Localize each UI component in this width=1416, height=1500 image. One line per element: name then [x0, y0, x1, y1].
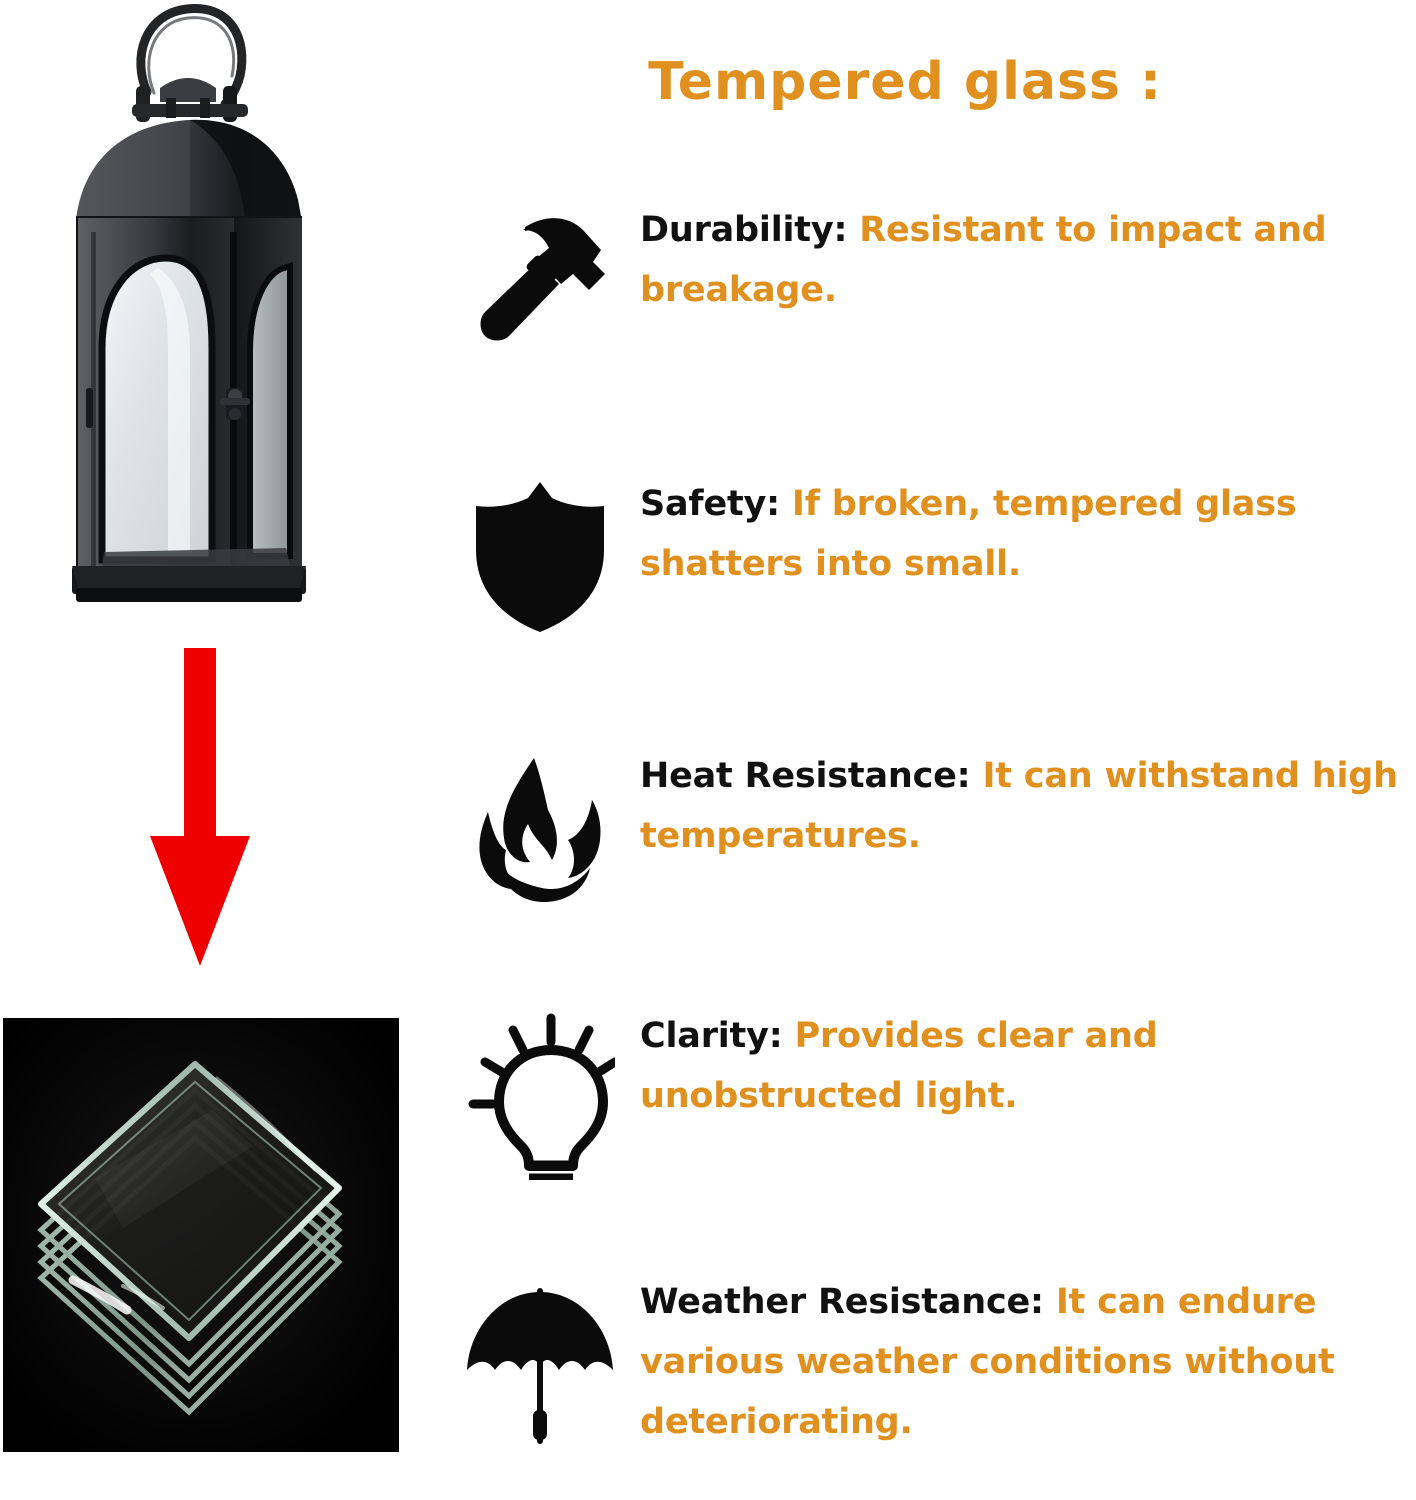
feature-label-weather-resistance: Weather Resistance:	[640, 1282, 1044, 1322]
feature-text-weather-resistance: Weather Resistance: It can endure variou…	[640, 1268, 1416, 1453]
features-column: Tempered glass : Durability: Resistant t…	[440, 0, 1416, 1500]
umbrella-icon	[440, 1268, 640, 1448]
feature-label-safety: Safety:	[640, 484, 780, 524]
feature-text-clarity: Clarity: Provides clear and unobstructed…	[640, 1002, 1416, 1126]
hammer-icon	[440, 196, 640, 376]
lantern-product-photo	[40, 0, 360, 640]
feature-row-heat-resistance: Heat Resistance: It can withstand high t…	[440, 742, 1416, 924]
feature-row-safety: Safety: If broken, tempered glass shatte…	[440, 470, 1416, 646]
feature-label-clarity: Clarity:	[640, 1016, 783, 1056]
flame-icon	[440, 742, 640, 924]
feature-label-durability: Durability:	[640, 210, 847, 250]
page-title: Tempered glass :	[440, 52, 1370, 112]
feature-text-durability: Durability: Resistant to impact and brea…	[640, 196, 1416, 320]
feature-row-durability: Durability: Resistant to impact and brea…	[440, 196, 1416, 376]
lightbulb-icon	[440, 1002, 640, 1180]
feature-label-heat-resistance: Heat Resistance:	[640, 756, 970, 796]
feature-row-clarity: Clarity: Provides clear and unobstructed…	[440, 1002, 1416, 1180]
tempered-glass-stack-photo	[3, 1018, 399, 1452]
feature-text-safety: Safety: If broken, tempered glass shatte…	[640, 470, 1416, 594]
product-image-column	[0, 0, 440, 1500]
shield-icon	[440, 470, 640, 646]
feature-text-heat-resistance: Heat Resistance: It can withstand high t…	[640, 742, 1416, 866]
feature-row-weather-resistance: Weather Resistance: It can endure variou…	[440, 1268, 1416, 1453]
down-arrow-icon	[140, 648, 260, 968]
